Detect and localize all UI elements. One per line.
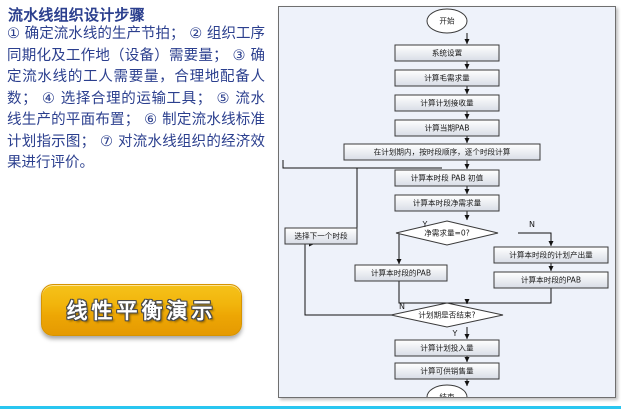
flow-node-cur-pab: 计算当期PAB	[395, 120, 499, 136]
flow-node-plan-out: 计算本时段的计划产出量	[494, 247, 608, 263]
flow-node-label: 计算毛需求量	[424, 72, 470, 82]
flow-node-start: 开始	[427, 9, 467, 33]
flow-node-label: 计算本时段 PAB 初值	[411, 172, 484, 182]
flow-node-label: 计算可供销售量	[420, 365, 474, 375]
flow-node-label: 计算本时段的PAB	[371, 267, 431, 277]
flow-node-end: 结束	[427, 385, 467, 397]
left-text-column: 流水线组织设计步骤 ① 确定流水线的生产节拍； ② 组织工序同期化及工作地（设备…	[0, 0, 272, 412]
edge-label-y-end: Y	[452, 329, 458, 338]
flow-node-label: 系统设置	[432, 47, 463, 57]
flowchart-diagram: 开始系统设置计算毛需求量计算计划接收量计算当期PAB在计划期内，按时段顺序，逐个…	[279, 7, 615, 397]
edge-label-y-left: Y	[422, 220, 428, 229]
flow-node-next-period: 选择下一个时段	[285, 228, 357, 244]
list-item: ④ 选择合理的运输工具；	[42, 91, 211, 107]
flow-node-net-req: 计算本时段净需求量	[395, 195, 499, 211]
line-balancing-demo-button[interactable]: 线性平衡演示	[41, 284, 242, 336]
flow-node-loop-head: 在计划期内，按时段顺序，逐个时段计算	[344, 144, 540, 160]
page-title: 流水线组织设计步骤	[8, 4, 145, 25]
bottom-accent-rule	[0, 406, 621, 409]
flow-node-label: 选择下一个时段	[294, 230, 348, 240]
flow-node-label: 计算计划接收量	[420, 97, 474, 107]
flow-node-label: 计算计划投入量	[420, 342, 474, 352]
flow-node-label: 在计划期内，按时段顺序，逐个时段计算	[374, 146, 511, 156]
flowchart-panel: 开始系统设置计算毛需求量计算计划接收量计算当期PAB在计划期内，按时段顺序，逐个…	[278, 6, 616, 398]
flow-node-sys-setup: 系统设置	[395, 45, 499, 61]
steps-list: ① 确定流水线的生产节拍； ② 组织工序同期化及工作地（设备）需要量； ③ 确定…	[7, 24, 265, 175]
flow-node-label: 计算本时段净需求量	[413, 197, 482, 207]
flow-node-net-req-zero: 净需求量=0?	[396, 221, 498, 245]
flow-node-label: 净需求量=0?	[424, 227, 470, 237]
flow-node-period-end: 计划期是否结束?	[391, 303, 503, 327]
flow-node-label: 计算本时段的PAB	[521, 274, 581, 284]
list-item: ① 确定流水线的生产节拍；	[7, 26, 185, 42]
flow-node-plan-input: 计算计划投入量	[395, 340, 499, 356]
flow-node-gross-req: 计算毛需求量	[395, 70, 499, 86]
flow-node-label: 计算当期PAB	[425, 122, 470, 132]
flow-node-pab-no: 计算本时段的PAB	[494, 272, 608, 288]
flow-node-pab-init: 计算本时段 PAB 初值	[395, 170, 499, 186]
flow-node-label: 计算本时段的计划产出量	[509, 249, 593, 259]
flow-node-sellable: 计算可供销售量	[395, 363, 499, 379]
flow-nodes: 开始系统设置计算毛需求量计算计划接收量计算当期PAB在计划期内，按时段顺序，逐个…	[285, 9, 608, 397]
edge-label-n-right: N	[529, 220, 535, 229]
flow-node-pab-yes: 计算本时段的PAB	[355, 265, 447, 281]
flow-node-label: 结束	[439, 391, 455, 397]
flow-node-label: 开始	[439, 15, 455, 25]
flow-node-sched-recv: 计算计划接收量	[395, 95, 499, 111]
demo-button-label: 线性平衡演示	[67, 295, 217, 325]
flow-node-label: 计划期是否结束?	[418, 309, 475, 319]
edge-label-n-end: N	[399, 302, 405, 311]
